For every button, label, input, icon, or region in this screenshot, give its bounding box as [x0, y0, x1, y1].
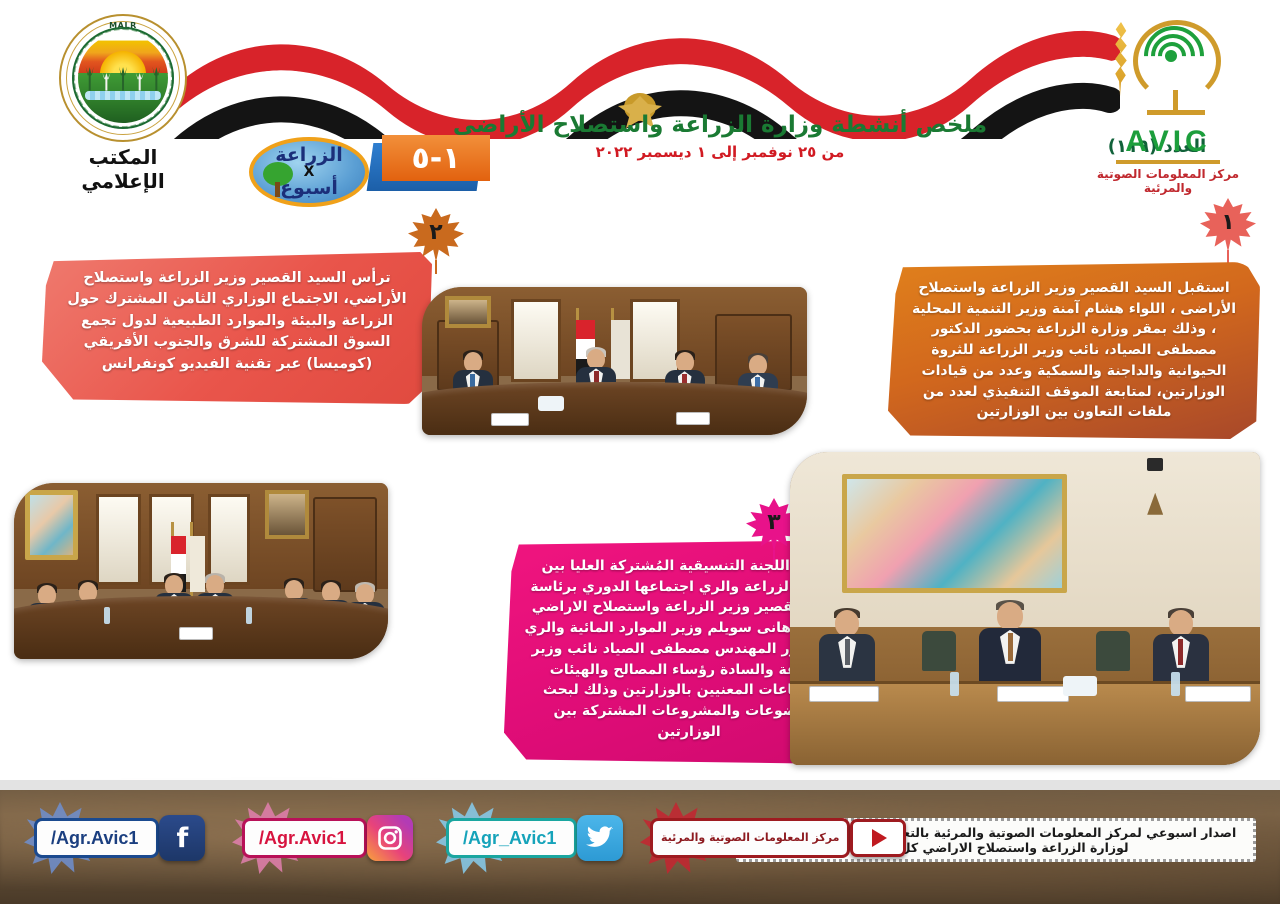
- seal-inner: [78, 33, 168, 123]
- date-range-label: من ٢٥ نوفمبر إلى ١ ديسمبر ٢٠٢٢: [520, 143, 920, 161]
- facebook-icon: f: [159, 815, 205, 861]
- footer-top-strip: [0, 780, 1280, 790]
- chair: [1096, 631, 1130, 671]
- nameplate: [809, 686, 879, 702]
- bulletin-page: MALR المكتب الإعلامي ملخص أنشطة وزارة ال…: [0, 0, 1280, 904]
- wall-portrait: [265, 490, 310, 539]
- wreath-icon: [72, 27, 174, 129]
- water-bottle: [246, 607, 252, 624]
- social-link-twitter[interactable]: /Agr_Avic1: [452, 814, 623, 862]
- twitter-bird-glyph: [586, 825, 614, 851]
- malr-seal-icon: MALR: [59, 14, 187, 142]
- sky-graphic: [78, 33, 168, 74]
- instagram-glyph: [376, 824, 404, 852]
- wall-painting: [25, 490, 77, 560]
- news-marker-2-number: ٢: [408, 208, 464, 262]
- person-center: [978, 602, 1042, 690]
- nameplate: [179, 627, 213, 640]
- leaf-stem: [773, 550, 775, 564]
- wheat-icon: [151, 67, 161, 91]
- news-marker-1-number: ١: [1200, 198, 1256, 252]
- wheat-stalk-icon: [1109, 22, 1133, 96]
- avic-wordmark: AVIC: [1078, 125, 1258, 159]
- window: [96, 494, 141, 586]
- window: [511, 299, 561, 382]
- wall-portrait: [445, 296, 491, 329]
- cotton-icon: [135, 73, 145, 91]
- nameplate: [676, 412, 710, 425]
- instagram-handle: /Agr.Avic1: [242, 818, 367, 858]
- page-number-tag: ١-٥: [378, 135, 488, 187]
- avic-caption: مركز المعلومات الصوتية والمرئية: [1078, 167, 1258, 195]
- nameplate: [1185, 686, 1251, 702]
- plants-graphic: [78, 61, 168, 91]
- nameplate: [491, 413, 529, 426]
- facebook-handle: /Agr.Avic1: [34, 818, 159, 858]
- social-link-facebook[interactable]: f /Agr.Avic1: [40, 814, 205, 862]
- twitter-handle: /Agr_Avic1: [446, 818, 577, 858]
- page-tag-label: ١-٥: [411, 141, 460, 176]
- news-card-1-text: ترأس السيد القصير وزير الزراعة واستصلاح …: [67, 270, 406, 372]
- water-bottle: [104, 607, 110, 624]
- news-card-2: استقبل السيد القصير وزير الزراعة واستصلا…: [888, 262, 1260, 439]
- leaf-stem: [435, 260, 437, 274]
- field-graphic: [78, 73, 168, 123]
- agriculture-week-badge: الزراعة X أسبوع: [249, 137, 369, 207]
- social-link-youtube[interactable]: مركز المعلومات الصوتية والمرئية: [656, 814, 906, 862]
- page-header: MALR المكتب الإعلامي ملخص أنشطة وزارة ال…: [0, 0, 1280, 215]
- water-bottle: [950, 672, 959, 696]
- social-link-instagram[interactable]: /Agr.Avic1: [248, 814, 413, 862]
- avic-stem: [1173, 90, 1178, 112]
- wall-panel: [313, 497, 377, 592]
- person-left: [818, 610, 876, 690]
- conference-room-scene: [790, 452, 1260, 765]
- tissue-box: [1063, 676, 1097, 696]
- news-card-2-text: استقبل السيد القصير وزير الزراعة واستصلا…: [912, 280, 1236, 420]
- youtube-handle: مركز المعلومات الصوتية والمرئية: [650, 818, 850, 858]
- malr-seal-text: MALR: [61, 21, 185, 30]
- wall-mural-painting: [842, 474, 1068, 593]
- news-card-1: ترأس السيد القصير وزير الزراعة واستصلاح …: [42, 252, 432, 404]
- wheat-icon: [118, 67, 128, 91]
- window: [208, 494, 249, 586]
- water-bottle: [1171, 672, 1180, 696]
- avic-logo-block: AVIC مركز المعلومات الصوتية والمرئية: [1078, 16, 1258, 195]
- leaf-stem: [1227, 250, 1229, 264]
- media-office-label: المكتب الإعلامي: [48, 145, 198, 193]
- meeting-room-scene: [422, 287, 807, 435]
- news-marker-1: ١: [1200, 198, 1256, 252]
- nameplate: [997, 686, 1069, 702]
- page-footer: f /Agr.Avic1 /Agr.Avic1 /Agr: [0, 780, 1280, 904]
- tree-trunk: [275, 182, 280, 197]
- cotton-icon: [101, 73, 111, 91]
- instagram-icon: [367, 815, 413, 861]
- water-icon: [85, 91, 161, 100]
- twitter-icon: [577, 815, 623, 861]
- wheat-icon: [85, 67, 95, 91]
- person-right: [1152, 610, 1210, 690]
- tree-icon: [261, 162, 295, 198]
- play-triangle-icon: [872, 829, 887, 847]
- news-photo-1: [422, 287, 807, 435]
- meeting-room-scene: [14, 483, 388, 659]
- chair: [922, 631, 956, 671]
- avic-mark-icon: [1103, 16, 1233, 131]
- malr-logo-block: MALR المكتب الإعلامي: [48, 14, 198, 193]
- news-marker-2: ٢: [408, 208, 464, 262]
- table-edge: [790, 681, 1260, 684]
- page-title: ملخص أنشطة وزارة الزراعة واستصلاح الأراض…: [410, 112, 1030, 138]
- tag-orange-plate: ١-٥: [382, 135, 490, 181]
- avic-base: [1147, 110, 1205, 115]
- speaker-icon: [1147, 458, 1163, 471]
- sun-icon: [100, 51, 146, 97]
- youtube-icon: [850, 819, 906, 857]
- conference-table: [422, 382, 807, 435]
- news-photo-2: [14, 483, 388, 659]
- tissue-box: [538, 396, 564, 411]
- news-photo-3: [790, 452, 1260, 765]
- avic-underline: [1116, 160, 1220, 164]
